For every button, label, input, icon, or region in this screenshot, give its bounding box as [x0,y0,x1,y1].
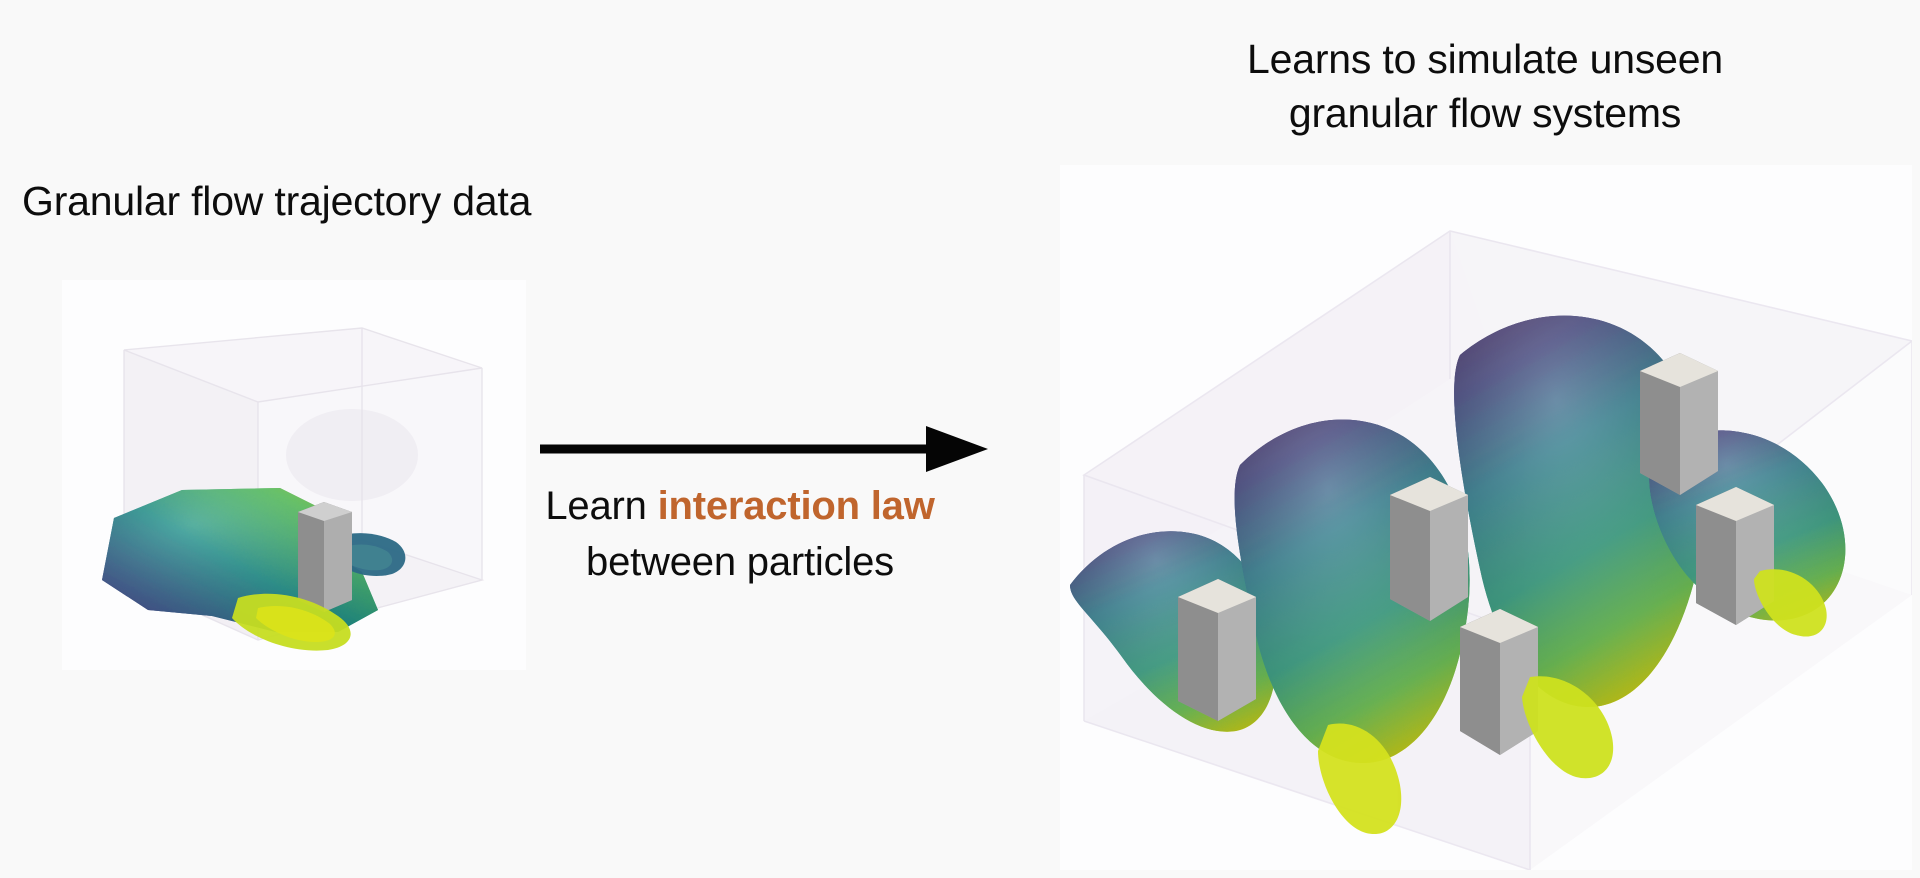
obstacle-column-3 [1640,353,1718,495]
left-simulation-svg [62,280,526,670]
figure-root: Granular flow trajectory data [0,0,1920,878]
obstacle-column-2 [1390,477,1468,621]
left-simulation-panel [62,280,526,670]
center-caption-line2: between particles [500,534,980,590]
right-caption-line1: Learns to simulate unseen [1060,32,1910,86]
center-caption-prefix: Learn [545,484,657,528]
right-simulation-svg [1060,165,1912,870]
left-obstacle-column [298,502,352,612]
center-caption-highlight: interaction law [658,484,935,528]
right-simulation-panel [1060,165,1912,870]
right-caption: Learns to simulate unseen granular flow … [1060,32,1910,140]
left-caption: Granular flow trajectory data [22,176,531,226]
right-arrow-icon [538,420,990,478]
right-caption-line2: granular flow systems [1060,86,1910,140]
obstacle-column-4 [1460,609,1538,755]
center-caption-line1: Learn interaction law [500,478,980,534]
obstacle-column-1 [1178,579,1256,721]
center-caption: Learn interaction law between particles [500,478,980,590]
